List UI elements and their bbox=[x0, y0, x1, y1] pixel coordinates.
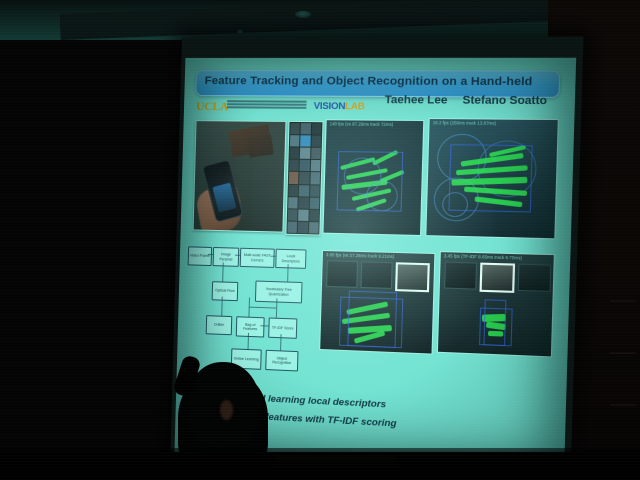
flow-box-tfidf-score: TF-IDF Score bbox=[268, 317, 297, 338]
flow-box-vocab-tree: Vocabulary Tree Quantization bbox=[255, 281, 303, 304]
object-thumbnail-grid bbox=[285, 121, 323, 236]
object-recognition-video-c: 3.85 fps (vs 27.26ms track 9.21ms) bbox=[319, 250, 435, 355]
ucla-logo: UCLA bbox=[196, 99, 228, 114]
video-caption: 15.2 fps (256ms track 13.87ms) bbox=[433, 120, 497, 126]
video-caption: 3.85 fps (vs 27.26ms track 9.21ms) bbox=[326, 252, 395, 259]
strip-frame bbox=[360, 261, 392, 289]
ear bbox=[220, 400, 233, 420]
flow-box-outlier: Outlier bbox=[206, 315, 233, 335]
wall-texture-line bbox=[610, 352, 636, 354]
video-caption: 3.45 fps (TF-IDF 8.65ms track 6.70ms) bbox=[444, 253, 522, 260]
logo-row: UCLA VISIONLAB bbox=[196, 98, 402, 116]
photo-scene: ISM 201 Feature Tracking and Object Reco… bbox=[0, 0, 640, 480]
marker-object bbox=[247, 134, 274, 158]
visionlab-logo: VISIONLAB bbox=[313, 101, 364, 113]
strip-frame bbox=[444, 262, 477, 290]
visionlab-logo-part1: VISION bbox=[313, 101, 345, 112]
flow-box-local-descriptors: Local Descriptors bbox=[275, 249, 306, 269]
foreground-shadow bbox=[0, 448, 640, 480]
wall-texture-line bbox=[610, 404, 636, 406]
feature-tracking-video-a: 140 fps (vs 87.26ms track 72ms) bbox=[322, 119, 424, 236]
ceiling-light-icon bbox=[237, 30, 243, 34]
visionlab-logo-part2: LAB bbox=[345, 101, 365, 112]
flow-box-image-pyramid: Image Pyramid bbox=[213, 247, 240, 267]
author-list: Taehee LeeStefano Soatto bbox=[385, 94, 563, 108]
phone-screen bbox=[212, 183, 236, 213]
flow-box-fast-corners: Multi-scale FAST Corners bbox=[240, 248, 275, 268]
strip-frame bbox=[518, 264, 552, 292]
wall-texture-line bbox=[610, 300, 636, 302]
strip-frame bbox=[326, 260, 358, 288]
slide-title: Feature Tracking and Object Recognition … bbox=[205, 75, 553, 88]
author-name: Stefano Soatto bbox=[462, 94, 547, 107]
hand-held-phone-photo bbox=[193, 120, 287, 233]
ucla-department-text bbox=[227, 100, 307, 110]
feature-tracking-video-b: 15.2 fps (256ms track 13.87ms) bbox=[425, 118, 559, 239]
ceiling-light-icon bbox=[295, 11, 311, 18]
left-dark-wall bbox=[0, 40, 190, 480]
frame-strip bbox=[444, 262, 551, 295]
strip-frame-selected bbox=[479, 263, 515, 293]
flow-box-optical-flow: Optical Flow bbox=[212, 281, 239, 301]
flow-box-bag-of-features: Bag of Features bbox=[236, 316, 265, 337]
flow-box-video-frame: Video Frame bbox=[188, 246, 212, 266]
object-recognition-video-d: 3.45 fps (TF-IDF 8.65ms track 6.70ms) bbox=[437, 251, 555, 357]
frame-strip bbox=[326, 260, 430, 292]
strip-frame-selected bbox=[395, 262, 430, 292]
author-name: Taehee Lee bbox=[385, 94, 448, 107]
video-caption: 140 fps (vs 87.26ms track 72ms) bbox=[330, 121, 394, 127]
